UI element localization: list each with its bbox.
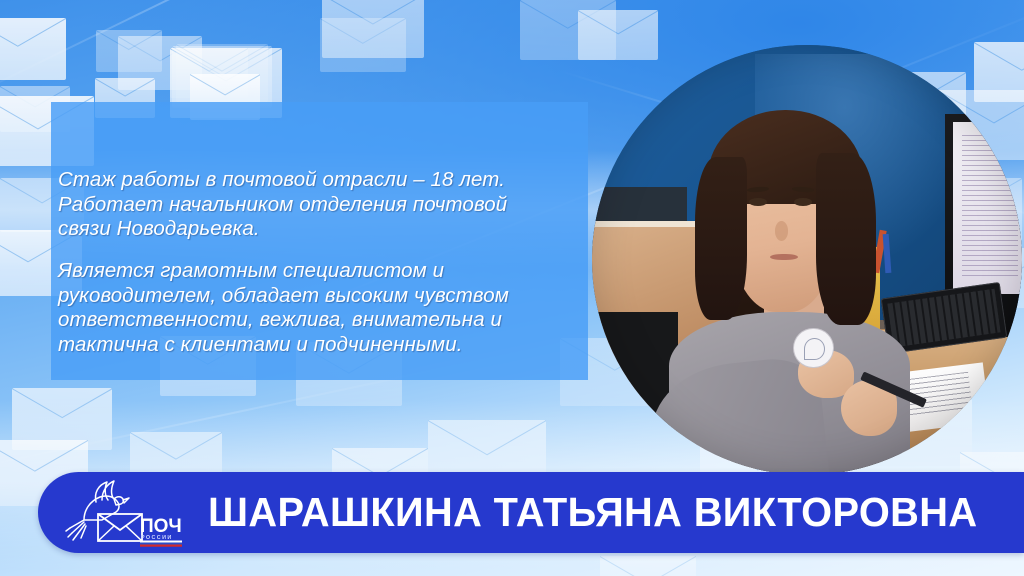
envelope-icon xyxy=(320,18,406,72)
slide-canvas: Стаж работы в почтовой отрасли – 18 лет.… xyxy=(0,0,1024,576)
portrait-photo xyxy=(592,45,1022,475)
biography-paragraph-2: Является грамотным специалистом и руково… xyxy=(58,259,578,357)
employee-name: ШАРАШКИНА ТАТЬЯНА ВИКТОРОВНА xyxy=(208,472,974,553)
envelope-icon xyxy=(600,556,696,576)
biography-paragraph-1: Стаж работы в почтовой отрасли – 18 лет.… xyxy=(58,168,578,242)
russian-post-logo: ПОЧТА РОССИИ xyxy=(50,476,182,548)
photo-vignette xyxy=(592,45,1022,475)
biography-panel: Стаж работы в почтовой отрасли – 18 лет.… xyxy=(51,102,588,380)
logo-artwork: ПОЧТА РОССИИ xyxy=(50,476,182,548)
envelope-icon xyxy=(96,30,162,72)
name-banner: ПОЧТА РОССИИ ШАРАШКИНА ТАТЬЯНА ВИКТОРОВН… xyxy=(38,472,1024,553)
logo-subtitle-text: РОССИИ xyxy=(141,535,173,541)
envelope-icon xyxy=(0,18,66,80)
logo-wordmark-text: ПОЧТА xyxy=(140,516,182,537)
